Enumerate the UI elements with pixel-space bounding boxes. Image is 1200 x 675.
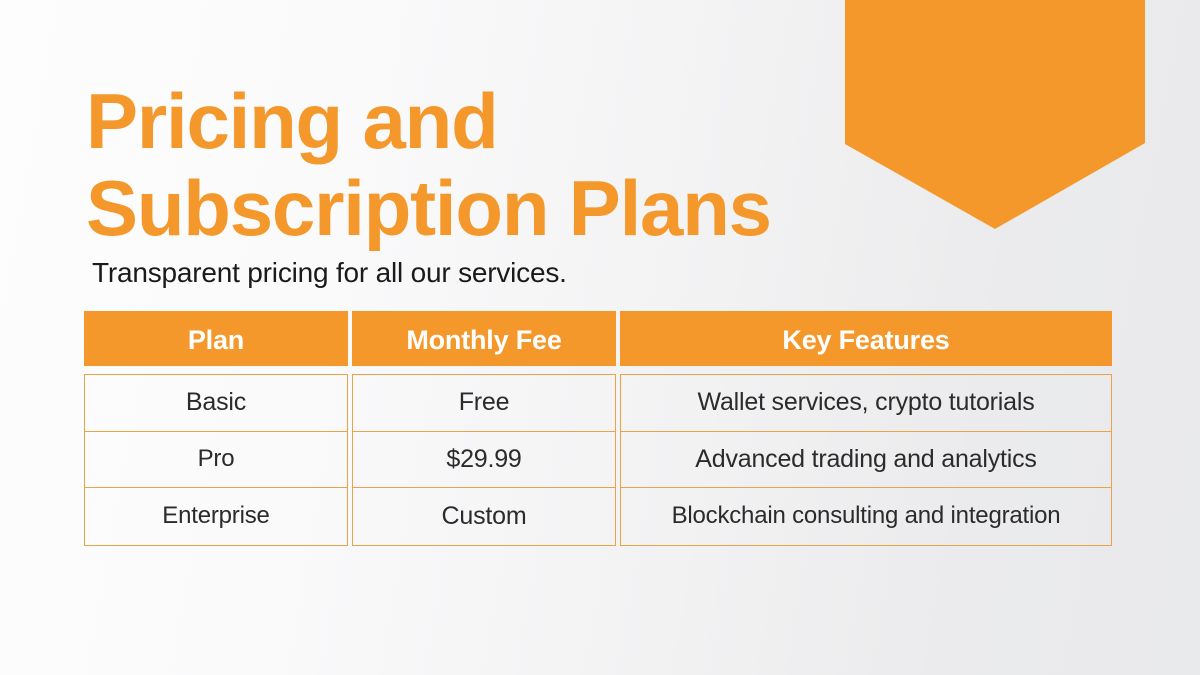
table-column-key-features: Key Features Wallet services, crypto tut… [620, 311, 1112, 546]
pricing-table: Plan Basic Pro Enterprise Monthly Fee Fr… [84, 311, 1112, 546]
pentagon-ribbon-shape [845, 0, 1145, 229]
column-body-plan: Basic Pro Enterprise [84, 374, 348, 546]
table-cell-plan-enterprise: Enterprise [85, 488, 347, 545]
table-cell-plan-pro: Pro [85, 432, 347, 489]
column-header-monthly-fee: Monthly Fee [352, 311, 616, 366]
ribbon-polygon [845, 0, 1145, 229]
column-header-plan: Plan [84, 311, 348, 366]
table-cell-fee-pro: $29.99 [353, 432, 615, 489]
table-cell-plan-basic: Basic [85, 375, 347, 432]
page-title: Pricing and Subscription Plans [86, 78, 846, 252]
column-body-key-features: Wallet services, crypto tutorials Advanc… [620, 374, 1112, 546]
table-cell-fee-enterprise: Custom [353, 488, 615, 545]
title-block: Pricing and Subscription Plans [86, 78, 846, 252]
table-cell-features-pro: Advanced trading and analytics [621, 432, 1111, 489]
table-column-plan: Plan Basic Pro Enterprise [84, 311, 348, 546]
column-header-key-features: Key Features [620, 311, 1112, 366]
table-cell-fee-basic: Free [353, 375, 615, 432]
page-subtitle: Transparent pricing for all our services… [92, 256, 567, 290]
table-column-monthly-fee: Monthly Fee Free $29.99 Custom [352, 311, 616, 546]
column-body-monthly-fee: Free $29.99 Custom [352, 374, 616, 546]
table-cell-features-basic: Wallet services, crypto tutorials [621, 375, 1111, 432]
table-cell-features-enterprise: Blockchain consulting and integration [621, 488, 1111, 545]
